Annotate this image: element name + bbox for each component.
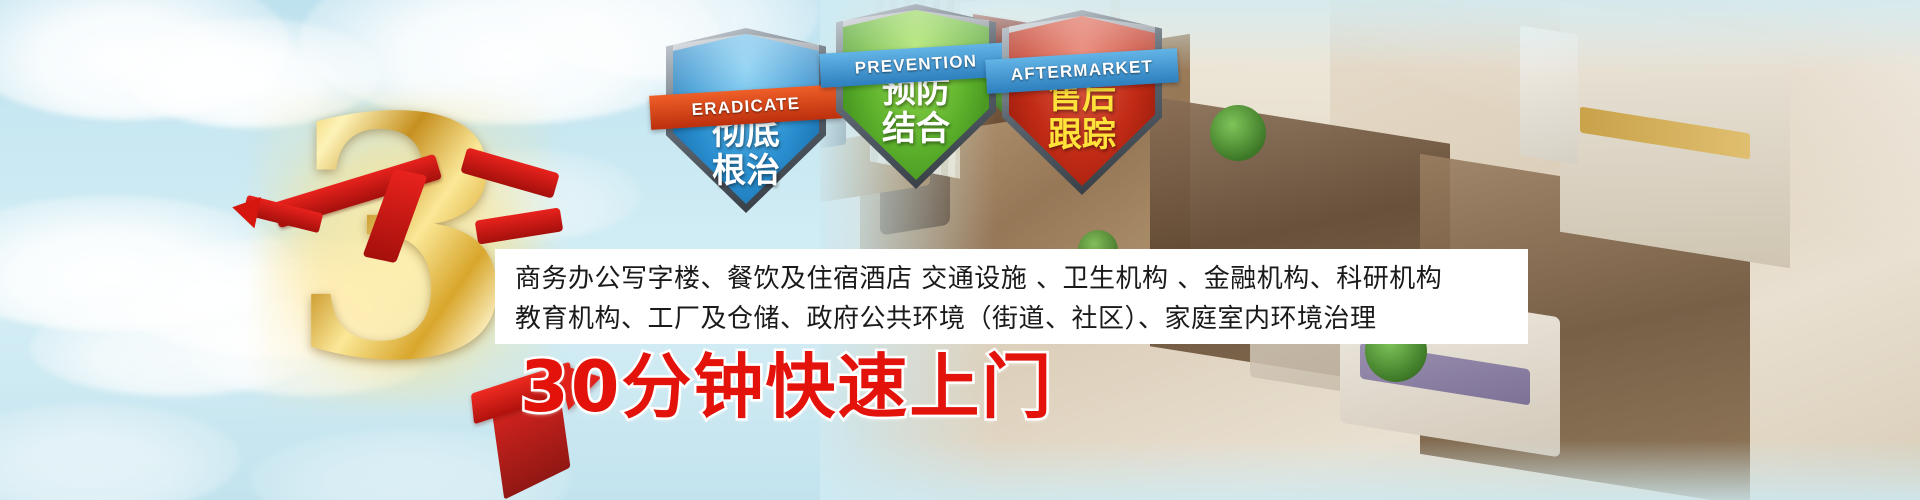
shield-badge-aftermarket: 售后 跟踪 AFTERMARKET [1002, 10, 1162, 195]
scope-line-1: 商务办公写字楼、餐饮及住宿酒店 交通设施 、卫生机构 、金融机构、科研机构 [515, 259, 1512, 299]
promo-banner: 3 彻底 根治 ERADICATE 预防 [0, 0, 1920, 500]
cloud-shape [0, 404, 240, 500]
shield-badge-prevention: 预防 结合 PREVENTION [836, 4, 996, 189]
shield-chinese-line-2: 跟踪 [1002, 116, 1162, 154]
shield-chinese-line-2: 结合 [836, 110, 996, 148]
headline-text: 30分钟快速上门 [520, 348, 1053, 426]
service-scope-panel: 商务办公写字楼、餐饮及住宿酒店 交通设施 、卫生机构 、金融机构、科研机构 教育… [495, 249, 1528, 344]
shield-badge-eradicate: 彻底 根治 ERADICATE [666, 28, 826, 213]
shield-chinese-line-2: 根治 [666, 152, 826, 190]
scope-line-2: 教育机构、工厂及仓储、政府公共环境（街道、社区）、家庭室内环境治理 [515, 299, 1512, 339]
service-shield-group: 彻底 根治 ERADICATE 预防 结合 PREVENTION 售后 跟踪 A… [650, 0, 1210, 210]
